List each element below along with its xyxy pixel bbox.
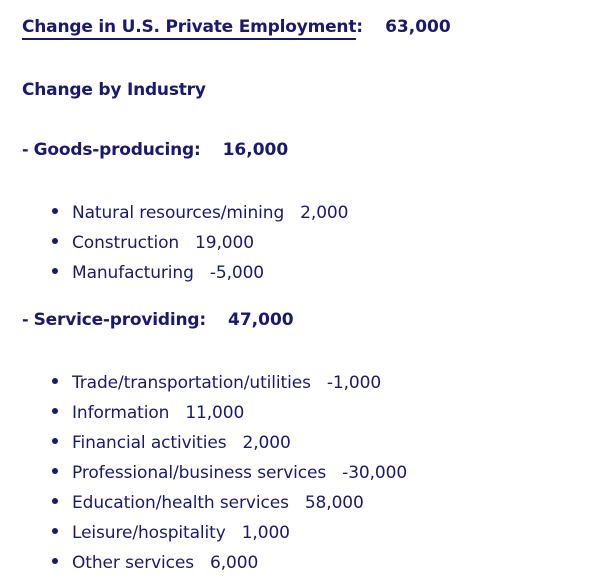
bullet-dot-icon [52,558,58,564]
industry-value: 2,000 [300,198,348,228]
bullet-dot-icon [52,528,58,534]
headline-colon: : [356,18,363,37]
list-item: Information 11,000 [52,398,407,428]
industry-label: Construction [72,228,179,258]
industry-label: Natural resources/mining [72,198,284,228]
industry-list-service-providing: Trade/transportation/utilities -1,000 In… [52,368,407,578]
industry-label: Other services [72,548,194,578]
industry-value: -5,000 [210,258,264,288]
bullet-dot-icon [52,438,58,444]
industry-label: Leisure/hospitality [72,518,226,548]
industry-value: 1,000 [242,518,290,548]
group-colon: : [194,140,201,160]
list-item: Trade/transportation/utilities -1,000 [52,368,407,398]
group-dash: - [22,310,29,329]
list-item: Natural resources/mining 2,000 [52,198,348,228]
bullet-dot-icon [52,378,58,384]
industry-label: Education/health services [72,488,289,518]
headline-row: Change in U.S. Private Employment: 63,00… [22,18,451,40]
industry-value: 2,000 [243,428,291,458]
industry-list-goods-producing: Natural resources/mining 2,000 Construct… [52,198,348,288]
group-heading-goods-producing: -Goods-producing:16,000 [22,140,288,160]
group-label: Service-providing [34,310,200,330]
industry-value: 11,000 [185,398,244,428]
bullet-dot-icon [52,468,58,474]
group-value: 16,000 [223,140,289,160]
industry-label: Financial activities [72,428,227,458]
list-item: Other services 6,000 [52,548,407,578]
section-heading: Change by Industry [22,80,206,100]
industry-label: Manufacturing [72,258,194,288]
list-item: Financial activities 2,000 [52,428,407,458]
list-item: Manufacturing -5,000 [52,258,348,288]
list-item: Professional/business services -30,000 [52,458,407,488]
bullet-dot-icon [52,238,58,244]
industry-label: Professional/business services [72,458,326,488]
bullet-dot-icon [52,208,58,214]
industry-value: -1,000 [327,368,381,398]
list-item: Construction 19,000 [52,228,348,258]
industry-value: 19,000 [195,228,254,258]
bullet-dot-icon [52,498,58,504]
headline-label: Change in U.S. Private Employment [22,18,356,40]
group-label: Goods-producing [34,140,194,160]
industry-label: Information [72,398,169,428]
group-dash: - [22,140,29,159]
industry-value: 58,000 [305,488,364,518]
group-colon: : [199,310,206,330]
bullet-dot-icon [52,268,58,274]
list-item: Leisure/hospitality 1,000 [52,518,407,548]
bullet-dot-icon [52,408,58,414]
list-item: Education/health services 58,000 [52,488,407,518]
headline-value: 63,000 [385,18,451,37]
industry-value: 6,000 [210,548,258,578]
group-value: 47,000 [228,310,294,330]
industry-label: Trade/transportation/utilities [72,368,311,398]
group-heading-service-providing: -Service-providing:47,000 [22,310,294,330]
employment-report-page: Change in U.S. Private Employment: 63,00… [0,0,602,580]
industry-value: -30,000 [342,458,407,488]
